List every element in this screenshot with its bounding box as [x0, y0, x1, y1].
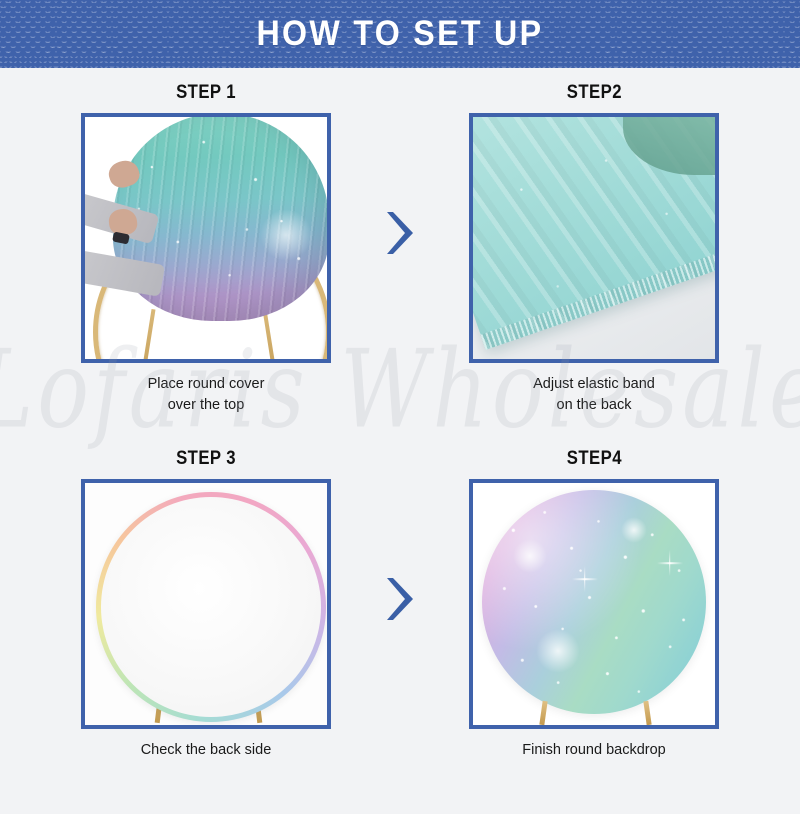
step-caption-1: Place round cover over the top: [148, 374, 265, 416]
steps-row-top: STEP 1: [0, 82, 800, 448]
step-title-2: STEP2: [566, 82, 621, 104]
page-header: HOW TO SET UP: [0, 0, 800, 68]
step-image-frame-2: [469, 113, 719, 363]
step-photo-2: [473, 117, 715, 359]
chevron-right-icon-1: [383, 210, 417, 256]
step-caption-2-line1: Adjust elastic band: [533, 374, 655, 395]
step-image-frame-1: [81, 113, 331, 363]
steps-row-bottom: STEP 3 Check the back side STEP4: [0, 448, 800, 814]
step-title-3: STEP 3: [176, 448, 236, 470]
step-caption-3-line1: Check the back side: [141, 740, 272, 761]
step-card-3: STEP 3 Check the back side: [80, 448, 332, 814]
step-photo-4: [473, 483, 715, 725]
photo2-sparkle-dots: [473, 117, 715, 359]
step-caption-2: Adjust elastic band on the back: [533, 374, 655, 416]
chevron-right-icon-2: [383, 576, 417, 622]
step-photo-3: [85, 483, 327, 725]
step-caption-3: Check the back side: [141, 740, 272, 761]
photo4-glow-3: [621, 517, 647, 543]
step-photo-1: [85, 117, 327, 359]
step-caption-4: Finish round backdrop: [522, 740, 665, 761]
photo4-finished-backdrop: [482, 490, 706, 714]
step-image-frame-3: [81, 479, 331, 729]
steps-grid: STEP 1: [0, 68, 800, 814]
photo4-star-field: [482, 490, 706, 714]
page-title: HOW TO SET UP: [257, 14, 544, 54]
step-title-1: STEP 1: [176, 82, 236, 104]
step-card-1: STEP 1: [80, 82, 332, 448]
step-caption-1-line1: Place round cover: [148, 374, 265, 395]
step-caption-2-line2: on the back: [533, 395, 655, 416]
step-image-frame-4: [469, 479, 719, 729]
photo4-sparkle-2: [657, 550, 683, 576]
step-caption-1-line2: over the top: [148, 395, 265, 416]
step-card-4: STEP4 Finish round b: [468, 448, 720, 814]
step-caption-4-line1: Finish round backdrop: [522, 740, 665, 761]
photo4-glow-2: [536, 629, 580, 673]
step-title-4: STEP4: [566, 448, 621, 470]
step-card-2: STEP2 Adjust elastic band on the back: [468, 82, 720, 448]
photo4-sparkle-1: [572, 566, 598, 592]
photo1-light-glow: [260, 209, 312, 261]
photo3-white-back-disc: [96, 492, 326, 722]
